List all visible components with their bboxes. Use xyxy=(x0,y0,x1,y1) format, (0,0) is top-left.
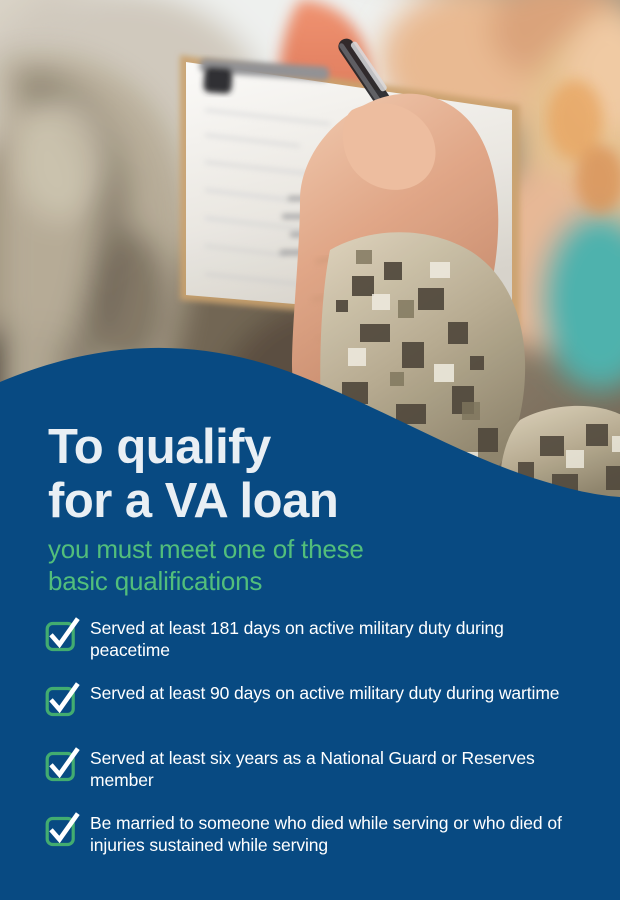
checked-checkbox-icon xyxy=(44,747,80,783)
checked-checkbox-icon xyxy=(44,812,80,848)
list-item: Served at least 90 days on active milita… xyxy=(44,681,564,727)
list-item: Served at least six years as a National … xyxy=(44,746,564,792)
page-title-line-1: To qualify xyxy=(48,420,588,474)
page-subtitle: you must meet one of these basic qualifi… xyxy=(48,533,588,597)
checkbox-glyph xyxy=(44,682,80,718)
page-subtitle-line-1: you must meet one of these xyxy=(48,533,588,565)
list-item-label: Served at least 181 days on active milit… xyxy=(90,616,564,661)
page-title: To qualify for a VA loan xyxy=(48,420,588,528)
checkbox-glyph xyxy=(44,812,80,848)
list-item: Served at least 181 days on active milit… xyxy=(44,616,564,662)
content-layer: To qualify for a VA loan you must meet o… xyxy=(0,0,620,900)
page-subtitle-line-2: basic qualifications xyxy=(48,565,588,597)
list-item-label: Served at least six years as a National … xyxy=(90,746,564,791)
list-item-label: Served at least 90 days on active milita… xyxy=(90,681,564,704)
page-title-line-2: for a VA loan xyxy=(48,474,588,528)
checkbox-glyph xyxy=(44,617,80,653)
va-loan-qualification-infographic: To qualify for a VA loan you must meet o… xyxy=(0,0,620,900)
list-item: Be married to someone who died while ser… xyxy=(44,811,564,857)
checkbox-glyph xyxy=(44,747,80,783)
qualifications-list: Served at least 181 days on active milit… xyxy=(44,616,564,876)
list-item-label: Be married to someone who died while ser… xyxy=(90,811,564,856)
checked-checkbox-icon xyxy=(44,682,80,718)
checked-checkbox-icon xyxy=(44,617,80,653)
